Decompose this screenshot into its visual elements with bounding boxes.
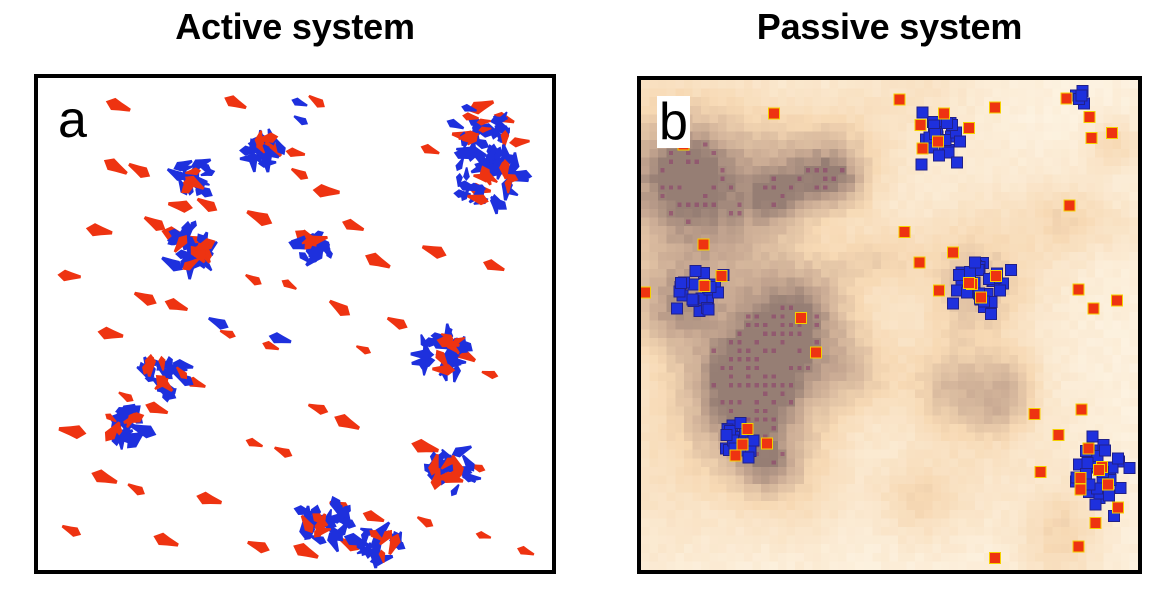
particle-square bbox=[954, 270, 965, 281]
particle-square bbox=[917, 107, 928, 118]
particle-square bbox=[1113, 502, 1124, 513]
particle-square bbox=[934, 150, 945, 161]
particle-square bbox=[730, 450, 741, 461]
particle-arrow bbox=[481, 257, 506, 275]
particle-arrow bbox=[126, 159, 153, 182]
particle-arrow bbox=[222, 92, 249, 113]
particle-square bbox=[1073, 541, 1084, 552]
particle-arrow bbox=[163, 296, 190, 316]
particle-arrow bbox=[355, 342, 373, 356]
particle-square bbox=[970, 257, 981, 268]
particle-arrow bbox=[289, 165, 311, 183]
particle-square bbox=[1086, 132, 1097, 143]
particle-square bbox=[955, 136, 966, 147]
figure-root: Active system Passive system a b bbox=[0, 0, 1163, 589]
particle-square bbox=[1064, 200, 1075, 211]
particle-arrow bbox=[272, 443, 294, 460]
particle-square bbox=[1005, 265, 1016, 276]
particle-square bbox=[1035, 467, 1046, 478]
particle-square bbox=[699, 280, 710, 291]
particle-arrow bbox=[244, 436, 264, 451]
panel-active-system: a bbox=[34, 74, 556, 574]
particle-arrow bbox=[279, 277, 298, 293]
particle-square bbox=[952, 285, 963, 296]
particle-square bbox=[1124, 463, 1135, 474]
particle-arrow bbox=[448, 483, 461, 499]
particle-square bbox=[939, 108, 950, 119]
particle-square bbox=[769, 108, 780, 119]
active-system-plot bbox=[38, 78, 552, 570]
particle-square bbox=[1100, 445, 1111, 456]
particle-square bbox=[989, 553, 1000, 564]
particle-square bbox=[964, 123, 975, 134]
particle-arrow bbox=[331, 410, 362, 434]
particle-square bbox=[737, 439, 748, 450]
particle-arrow bbox=[117, 389, 136, 405]
particle-arrow bbox=[515, 544, 535, 559]
particle-square bbox=[675, 277, 686, 288]
particle-square bbox=[985, 309, 996, 320]
particle-square bbox=[952, 157, 963, 168]
particle-arrow bbox=[58, 422, 88, 441]
particle-arrow bbox=[60, 521, 83, 539]
particle-square bbox=[742, 423, 753, 434]
particle-square bbox=[1107, 127, 1118, 138]
particle-square bbox=[1088, 303, 1099, 314]
particle-square bbox=[641, 287, 651, 298]
particle-square bbox=[1115, 483, 1126, 494]
particle-arrow bbox=[361, 508, 386, 526]
particle-arrow bbox=[326, 296, 354, 320]
particle-arrow bbox=[415, 513, 436, 530]
panel-letter-b: b bbox=[657, 96, 690, 148]
particle-square bbox=[1029, 409, 1040, 420]
particle-square bbox=[690, 266, 701, 277]
particle-square bbox=[975, 292, 986, 303]
particle-square bbox=[1087, 431, 1098, 442]
particle-square bbox=[915, 120, 926, 131]
panel-title-passive: Passive system bbox=[637, 6, 1142, 48]
particle-square bbox=[796, 313, 807, 324]
particle-arrow bbox=[463, 167, 470, 181]
particle-arrow bbox=[312, 183, 340, 199]
particle-arrow bbox=[340, 216, 366, 235]
particle-arrow bbox=[194, 194, 220, 216]
particle-square bbox=[1073, 284, 1084, 295]
particle-arrow bbox=[246, 537, 272, 556]
particle-square bbox=[762, 438, 773, 449]
particle-arrow bbox=[126, 480, 148, 498]
particle-arrow bbox=[132, 288, 159, 309]
particle-square bbox=[1090, 518, 1101, 529]
particle-arrow bbox=[420, 241, 449, 262]
panel-passive-system: b bbox=[637, 76, 1142, 574]
particle-arrow bbox=[419, 142, 441, 158]
particle-square bbox=[990, 271, 1001, 282]
particle-arrow bbox=[243, 271, 264, 288]
particle-arrow bbox=[89, 467, 119, 489]
particle-arrow bbox=[85, 222, 114, 240]
particle-square bbox=[687, 294, 698, 305]
particle-arrow bbox=[290, 96, 309, 110]
particle-arrow bbox=[101, 154, 131, 179]
particle-arrow bbox=[385, 313, 410, 333]
particle-square bbox=[994, 285, 1005, 296]
particle-arrow bbox=[306, 92, 328, 111]
particle-square bbox=[1112, 295, 1123, 306]
particle-square bbox=[698, 239, 709, 250]
particle-square bbox=[1113, 453, 1124, 464]
particle-arrow bbox=[143, 399, 170, 418]
particle-square bbox=[1076, 90, 1087, 101]
particle-arrow bbox=[362, 249, 393, 273]
particle-arrow bbox=[509, 136, 531, 148]
particle-square bbox=[933, 136, 944, 147]
particle-square bbox=[948, 298, 959, 309]
particle-square bbox=[721, 429, 732, 440]
particle-square bbox=[1104, 490, 1115, 501]
particle-arrow bbox=[206, 313, 231, 332]
particle-arrow bbox=[104, 95, 133, 116]
panel-title-active: Active system bbox=[34, 6, 556, 48]
particle-square bbox=[934, 285, 945, 296]
particle-square bbox=[899, 226, 910, 237]
particle-square bbox=[1094, 465, 1105, 476]
particle-arrow bbox=[445, 116, 466, 132]
particle-square bbox=[916, 159, 927, 170]
particle-square bbox=[1084, 112, 1095, 123]
particle-arrow bbox=[285, 146, 306, 159]
particle-arrow bbox=[96, 325, 124, 342]
particle-arrow bbox=[307, 400, 331, 417]
particle-square bbox=[964, 277, 975, 288]
particle-arrow bbox=[195, 490, 224, 509]
particle-square bbox=[671, 303, 682, 314]
particle-square bbox=[1061, 93, 1072, 104]
particle-square bbox=[1053, 429, 1064, 440]
particle-arrow bbox=[244, 205, 275, 229]
particle-square bbox=[1076, 404, 1087, 415]
particle-arrow bbox=[57, 269, 81, 283]
particle-square bbox=[1090, 499, 1101, 510]
particle-arrow bbox=[290, 539, 321, 563]
particle-square bbox=[810, 347, 821, 358]
particle-square bbox=[914, 257, 925, 268]
passive-system-plot bbox=[641, 80, 1138, 570]
particle-square bbox=[743, 452, 754, 463]
particle-square bbox=[1083, 443, 1094, 454]
particle-square bbox=[1082, 458, 1093, 469]
particle-square bbox=[989, 102, 1000, 113]
particle-square bbox=[1075, 484, 1086, 495]
particle-square bbox=[1075, 472, 1086, 483]
particle-square bbox=[917, 143, 928, 154]
particle-arrow bbox=[292, 113, 310, 128]
panel-letter-a: a bbox=[58, 94, 87, 146]
particle-square bbox=[716, 271, 727, 282]
particle-square bbox=[948, 247, 959, 258]
particle-arrow bbox=[167, 197, 194, 214]
particle-square bbox=[703, 304, 714, 315]
particle-square bbox=[894, 94, 905, 105]
particle-square bbox=[1103, 479, 1114, 490]
particle-arrow bbox=[481, 368, 500, 381]
particle-arrow bbox=[151, 530, 180, 551]
particle-arrow bbox=[475, 530, 492, 542]
particle-square bbox=[748, 435, 759, 446]
